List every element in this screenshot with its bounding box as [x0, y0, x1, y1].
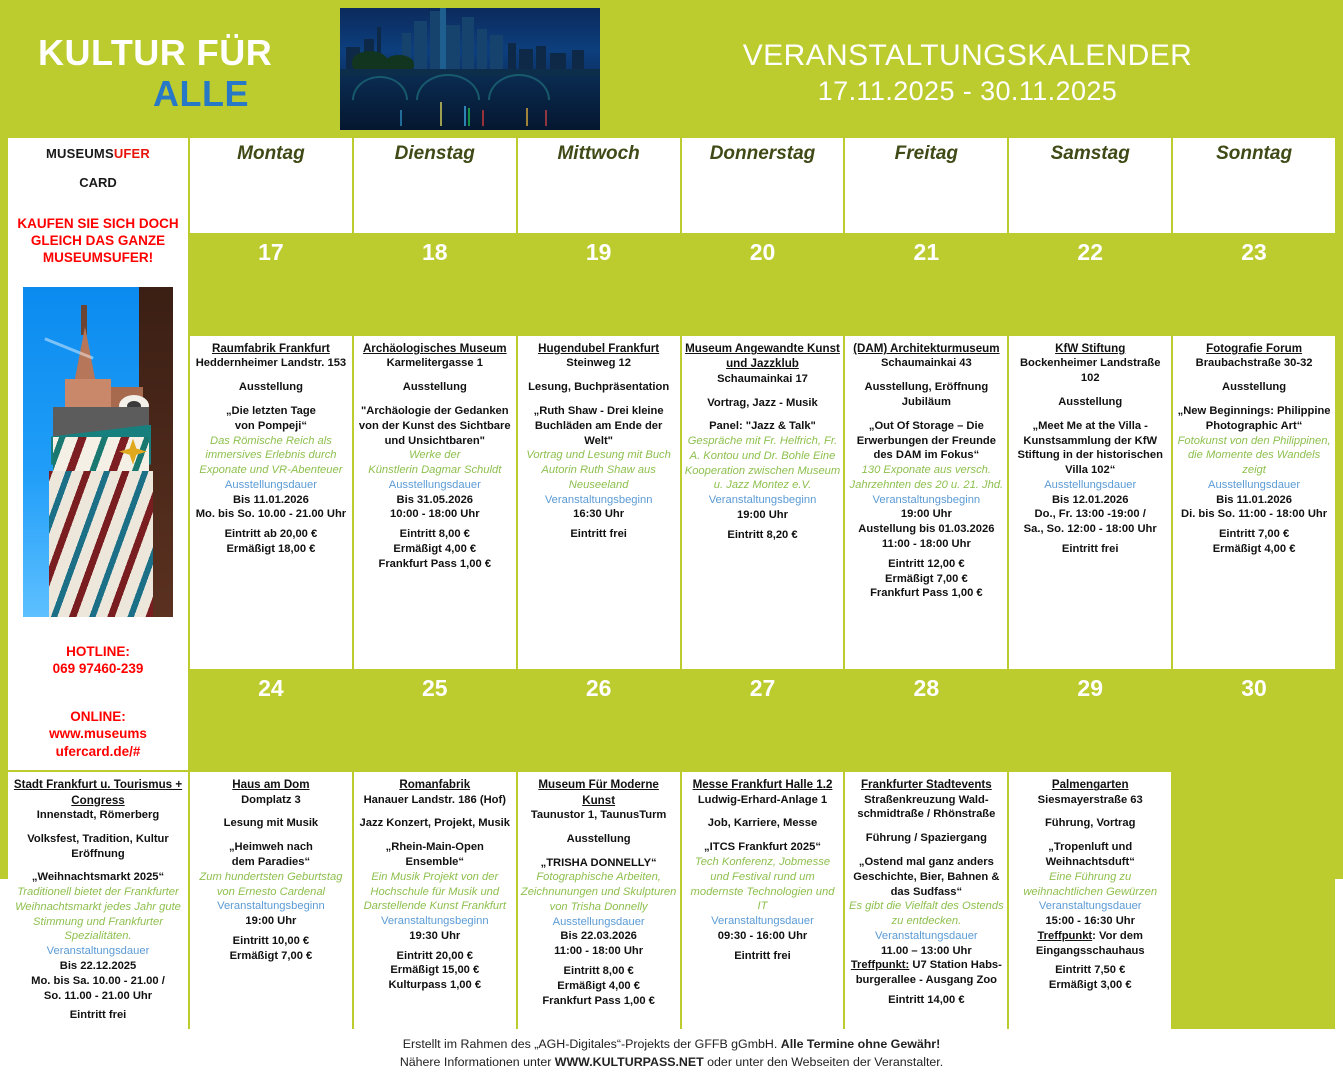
event-type: Ausstellung [193, 380, 349, 395]
event-type: Jazz Konzert, Projekt, Musik [357, 816, 513, 831]
event-times: Bis 31.05.202610:00 - 18:00 Uhr [357, 493, 513, 523]
event-venue: Archäologisches Museum [357, 341, 513, 356]
event-title: Panel: "Jazz & Talk" [685, 419, 841, 434]
event-title: „Heimweh nachdem Paradies“ [193, 840, 349, 870]
event-address: Heddernheimer Landstr. 153 [193, 356, 349, 371]
event-type: Ausstellung [1176, 380, 1332, 395]
event-price: Eintritt 10,00 €Ermäßigt 7,00 € [193, 934, 349, 964]
online-label: ONLINE: [49, 708, 147, 726]
event-duration-label: Ausstellungsdauer [193, 478, 349, 493]
event-description: 130 Exponate aus versch. Jahrzehnten des… [848, 463, 1004, 493]
calendar-page: KULTUR FÜR ALLE [0, 0, 1343, 879]
dayname-samstag: Samstag [1009, 138, 1171, 233]
event-venue: KfW Stiftung [1012, 341, 1168, 356]
dayname-donnerstag: Donnerstag [682, 138, 844, 233]
event-cell[interactable]: Raumfabrik FrankfurtHeddernheimer Landst… [190, 336, 352, 669]
daynumber: 18 [354, 235, 516, 334]
calendar-title: VERANSTALTUNGSKALENDER [743, 37, 1192, 75]
event-duration-label: Ausstellungsdauer [1176, 478, 1332, 493]
museumsufer-card-panel: MUSEUMSUFER CARD KAUFEN SIE SICH DOCH GL… [8, 138, 188, 770]
brand-line-2: ALLE [153, 73, 340, 114]
event-description: Werke derKünstlerin Dagmar Schuldt [357, 448, 513, 478]
dayname-sonntag: Sonntag [1173, 138, 1335, 233]
dayname-freitag: Freitag [845, 138, 1007, 233]
event-times: 19:00 Uhr [193, 914, 349, 929]
event-venue: Palmengarten [1012, 777, 1168, 792]
event-duration-label: Ausstellungsdauer [357, 478, 513, 493]
event-price: Eintritt frei [1012, 542, 1168, 557]
event-address: Straßenkreuzung Wald-schmidtraße / Rhöns… [848, 793, 1004, 823]
museumsufer-subtitle: CARD [79, 175, 117, 190]
daynumber: 17 [190, 235, 352, 334]
event-cell[interactable]: Stadt Frankfurt u. Tourismus + CongressI… [8, 772, 188, 1029]
event-type: Ausstellung [521, 832, 677, 847]
event-venue: Haus am Dom [193, 777, 349, 792]
event-cell[interactable]: Museum Für Moderne KunstTaunustor 1, Tau… [518, 772, 680, 1029]
event-duration-label: Veranstaltungsdauer [848, 929, 1004, 944]
event-cell[interactable]: KfW Stiftung Bockenheimer Landstraße 102… [1009, 336, 1171, 669]
event-address: Braubachstraße 30-32 [1176, 356, 1332, 371]
daynumber: 24 [190, 671, 352, 770]
event-times: 16:30 Uhr [521, 507, 677, 522]
hotline-label: HOTLINE: [53, 643, 144, 661]
brand-block: KULTUR FÜR ALLE [8, 8, 340, 138]
footer-line-2-prefix: Nähere Informationen unter [400, 1055, 555, 1069]
event-address: Siesmayerstraße 63 [1012, 793, 1168, 808]
event-times: Bis 22.12.2025Mo. bis Sa. 10.00 - 21.00 … [11, 959, 185, 1003]
event-type: Führung, Vortrag [1012, 816, 1168, 831]
event-venue: Hugendubel Frankfurt [521, 341, 677, 356]
daynumber: 19 [518, 235, 680, 334]
event-duration-label: Veranstaltungsbeginn [685, 493, 841, 508]
daynumber: 23 [1173, 235, 1335, 334]
event-title: „Weihnachtsmarkt 2025“ [11, 870, 185, 885]
event-cell[interactable]: (DAM) ArchitekturmuseumSchaumainkai 43Au… [845, 336, 1007, 669]
event-description: Fotographische Arbeiten, Zeichnunungen u… [521, 870, 677, 914]
event-address: Schaumainkai 17 [685, 372, 841, 387]
event-address: Ludwig-Erhard-Anlage 1 [685, 793, 841, 808]
event-venue: Romanfabrik [357, 777, 513, 792]
page-footer: Erstellt im Rahmen des „AGH-Digitales“-P… [8, 1029, 1335, 1078]
event-description: Fotokunst von den Philippinen, die Momen… [1176, 434, 1332, 478]
daynumber: 29 [1009, 671, 1171, 770]
event-description: Gespräche mit Fr. Helfrich, Fr. A. Konto… [685, 434, 841, 493]
event-type: Ausstellung, Eröffnung Jubiläum [848, 380, 1004, 410]
event-venue: Fotografie Forum [1176, 341, 1332, 356]
event-times: Bis 11.01.2026Di. bis So. 11:00 - 18:00 … [1176, 493, 1332, 523]
event-price: Eintritt 8,00 €Ermäßigt 4,00 €Frankfurt … [357, 527, 513, 571]
event-duration-label: Veranstaltungsdauer [1012, 899, 1168, 914]
dayname-dienstag: Dienstag [354, 138, 516, 233]
event-venue: Museum Angewandte Kunst und Jazzklub [685, 341, 841, 372]
event-title: „New Beginnings: Philippine Photographic… [1176, 404, 1332, 434]
event-address: Hanauer Landstr. 186 (Hof) [357, 793, 513, 808]
event-type: Führung / Spaziergang [848, 831, 1004, 846]
roemer-frankfurt-image [23, 287, 173, 617]
event-cell[interactable]: Frankfurter StadteventsStraßenkreuzung W… [845, 772, 1007, 1029]
calendar-header-text: VERANSTALTUNGSKALENDER 17.11.2025 - 30.1… [600, 8, 1335, 138]
event-duration-label: Veranstaltungsbeginn [193, 899, 349, 914]
page-header: KULTUR FÜR ALLE [8, 8, 1335, 138]
event-address: Karmelitergasse 1 [357, 356, 513, 371]
event-price: Eintritt 7,00 €Ermäßigt 4,00 € [1176, 527, 1332, 557]
footer-disclaimer: Alle Termine ohne Gewähr! [781, 1037, 941, 1051]
event-duration-label: Veranstaltungsdauer [685, 914, 841, 929]
event-address: Bockenheimer Landstraße 102 [1012, 356, 1168, 386]
event-meeting-point: Treffpunkt: U7 Station Habs-burgerallee … [848, 958, 1004, 988]
footer-line-2-suffix: oder unter den Webseiten der Veranstalte… [704, 1055, 943, 1069]
event-price: Eintritt frei [11, 1008, 185, 1023]
event-duration-label: Veranstaltungsbeginn [521, 493, 677, 508]
daynumber: 27 [682, 671, 844, 770]
event-meeting-point: Treffpunkt: Vor dem Eingangsschauhaus [1012, 929, 1168, 959]
event-address: Domplatz 3 [193, 793, 349, 808]
event-times: 15:00 - 16:30 Uhr [1012, 914, 1168, 929]
event-venue: Frankfurter Stadtevents [848, 777, 1004, 792]
event-times: 19:00 UhrAustellung bis 01.03.202611:00 … [848, 507, 1004, 551]
event-price: Eintritt 14,00 € [848, 993, 1004, 1008]
event-cell[interactable]: Archäologisches MuseumKarmelitergasse 1A… [354, 336, 516, 669]
event-cell[interactable]: Hugendubel FrankfurtSteinweg 12Lesung, B… [518, 336, 680, 669]
event-venue: Museum Für Moderne Kunst [521, 777, 677, 808]
calendar-date-range: 17.11.2025 - 30.11.2025 [818, 75, 1117, 109]
event-title: „Ostend mal ganz anders Geschichte, Bier… [848, 855, 1004, 899]
event-cell[interactable]: Haus am DomDomplatz 3Lesung mit Musik„He… [190, 772, 352, 1029]
event-title: „Out Of Storage – Die Erwerbungen der Fr… [848, 419, 1004, 463]
event-description: Es gibt die Vielfalt des Ostends zu entd… [848, 899, 1004, 929]
event-address: Steinweg 12 [521, 356, 677, 371]
event-title: „Rhein-Main-Open Ensemble“ [357, 840, 513, 870]
footer-line-1: Erstellt im Rahmen des „AGH-Digitales“-P… [8, 1036, 1335, 1054]
event-cell[interactable]: Museum Angewandte Kunst und JazzklubScha… [682, 336, 844, 669]
hotline-block: HOTLINE: 069 97460-239 [53, 643, 144, 678]
event-venue: (DAM) Architekturmuseum [848, 341, 1004, 356]
event-cell[interactable]: RomanfabrikHanauer Landstr. 186 (Hof)Jaz… [354, 772, 516, 1029]
event-description: Traditionell bietet der Frankfurter Weih… [11, 885, 185, 944]
event-price: Eintritt frei [685, 949, 841, 964]
event-duration-label: Veranstaltungsbeginn [848, 493, 1004, 508]
kulturpass-url[interactable]: WWW.KULTURPASS.NET [555, 1055, 704, 1069]
event-price: Eintritt ab 20,00 €Ermäßigt 18,00 € [193, 527, 349, 557]
footer-line-2: Nähere Informationen unter WWW.KULTURPAS… [8, 1054, 1335, 1072]
museumsufer-title-black: MUSEUMS [46, 146, 114, 161]
frankfurt-skyline-image [340, 8, 600, 130]
daynumber: 25 [354, 671, 516, 770]
event-description: Tech Konferenz, Jobmesse und Festival ru… [685, 855, 841, 914]
event-type: Volksfest, Tradition, Kultur Eröffnung [11, 832, 185, 862]
event-price: Eintritt 12,00 €Ermäßigt 7,00 €Frankfurt… [848, 557, 1004, 601]
event-price: Eintritt 8,00 €Ermäßigt 4,00 €Frankfurt … [521, 964, 677, 1008]
event-price: Eintritt 7,50 €Ermäßigt 3,00 € [1012, 963, 1168, 993]
calendar-grid: MUSEUMSUFER CARD KAUFEN SIE SICH DOCH GL… [8, 138, 1335, 1029]
event-title: „TRISHA DONNELLY“ [521, 856, 677, 871]
daynumber: 21 [845, 235, 1007, 334]
event-type: Lesung, Buchpräsentation [521, 380, 677, 395]
event-title: „Meet Me at the Villa - Kunstsammlung de… [1012, 419, 1168, 478]
event-times: 09:30 - 16:00 Uhr [685, 929, 841, 944]
daynumber: 26 [518, 671, 680, 770]
event-duration-label: Veranstaltungsbeginn [357, 914, 513, 929]
event-title: „Tropenluft undWeihnachtsduft“ [1012, 840, 1168, 870]
event-price: Eintritt 8,20 € [685, 528, 841, 543]
event-address: Taunustor 1, TaunusTurm [521, 808, 677, 823]
event-duration-label: Ausstellungsdauer [521, 915, 677, 930]
event-title: "Archäologie der Gedanken von der Kunst … [357, 404, 513, 448]
dayname-montag: Montag [190, 138, 352, 233]
event-description: Eine Führung zu weihnachtlichen Gewürzen [1012, 870, 1168, 900]
event-type: Lesung mit Musik [193, 816, 349, 831]
event-times: Bis 22.03.202611:00 - 18:00 Uhr [521, 929, 677, 959]
daynumber: 22 [1009, 235, 1171, 334]
event-venue: Raumfabrik Frankfurt [193, 341, 349, 356]
event-times: Bis 11.01.2026Mo. bis So. 10.00 - 21.00 … [193, 493, 349, 523]
online-url-line-1[interactable]: www.museums [49, 725, 147, 743]
event-times: 19:00 Uhr [685, 508, 841, 523]
event-venue: Messe Frankfurt Halle 1.2 [685, 777, 841, 792]
footer-line-1-text: Erstellt im Rahmen des „AGH-Digitales“-P… [403, 1037, 781, 1051]
event-description: Das Römische Reich als immersives Erlebn… [193, 434, 349, 478]
brand-line-1: KULTUR FÜR [38, 32, 340, 73]
event-cell[interactable]: Fotografie Forum Braubachstraße 30-32Aus… [1173, 336, 1335, 669]
event-title: „Ruth Shaw - Drei kleine Buchläden am En… [521, 404, 677, 448]
event-cell[interactable]: Messe Frankfurt Halle 1.2Ludwig-Erhard-A… [682, 772, 844, 1029]
event-description: Zum hundertsten Geburtstag von Ernesto C… [193, 870, 349, 900]
event-type: Ausstellung [1012, 395, 1168, 410]
hotline-number[interactable]: 069 97460-239 [53, 660, 144, 678]
event-type: Job, Karriere, Messe [685, 816, 841, 831]
event-address: Schaumainkai 43 [848, 356, 1004, 371]
event-type: Vortrag, Jazz - Musik [685, 396, 841, 411]
event-cell[interactable]: PalmengartenSiesmayerstraße 63Führung, V… [1009, 772, 1171, 1029]
event-duration-label: Veranstaltungsdauer [11, 944, 185, 959]
online-block: ONLINE: www.museums ufercard.de/# [49, 708, 147, 761]
event-description: Vortrag und Lesung mit Buch Autorin Ruth… [521, 448, 677, 492]
museumsufer-promo-text: KAUFEN SIE SICH DOCH GLEICH DAS GANZE MU… [14, 216, 182, 267]
event-price: Eintritt 20,00 €Ermäßigt 15,00 €Kulturpa… [357, 949, 513, 993]
event-title: „Die letzten Tagevon Pompeji“ [193, 404, 349, 434]
event-venue: Stadt Frankfurt u. Tourismus + Congress [11, 777, 185, 808]
event-type: Ausstellung [357, 380, 513, 395]
event-times: 11.00 – 13:00 Uhr [848, 944, 1004, 959]
daynumber: 30 [1173, 671, 1335, 770]
daynumber: 28 [845, 671, 1007, 770]
event-address: Innenstadt, Römerberg [11, 808, 185, 823]
museumsufer-title-red: UFER [114, 146, 150, 161]
dayname-mittwoch: Mittwoch [518, 138, 680, 233]
event-times: Bis 12.01.2026Do., Fr. 13:00 -19:00 /Sa.… [1012, 493, 1168, 537]
museumsufer-title: MUSEUMSUFER [46, 146, 150, 161]
online-url-line-2[interactable]: ufercard.de/# [49, 743, 147, 761]
event-duration-label: Ausstellungsdauer [1012, 478, 1168, 493]
event-times: 19:30 Uhr [357, 929, 513, 944]
event-price: Eintritt frei [521, 527, 677, 542]
event-description: Ein Musik Projekt von der Hochschule für… [357, 870, 513, 914]
event-title: „ITCS Frankfurt 2025“ [685, 840, 841, 855]
daynumber: 20 [682, 235, 844, 334]
